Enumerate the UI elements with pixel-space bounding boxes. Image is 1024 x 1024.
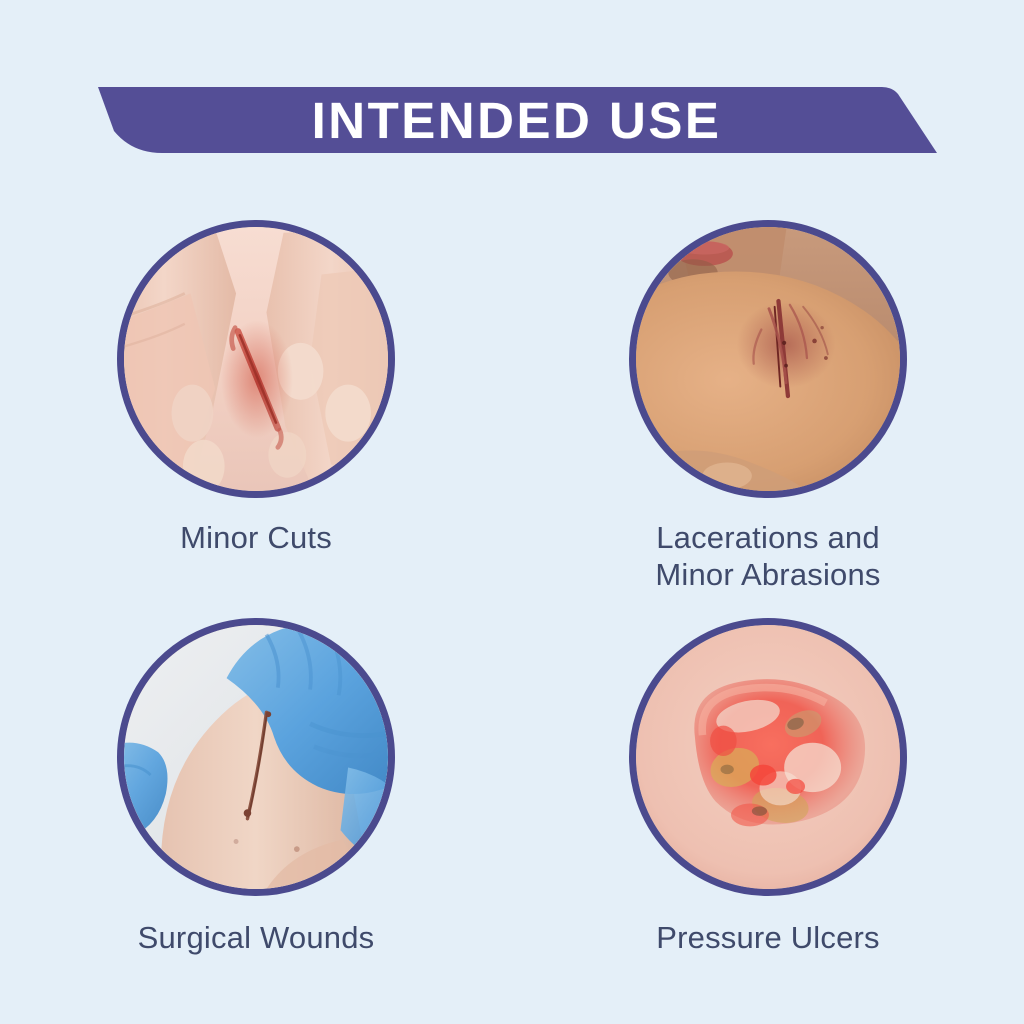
photo-surgical-wounds-image bbox=[124, 625, 388, 889]
grid-item-surgical-wounds: Surgical Wounds bbox=[0, 596, 512, 996]
grid-item-lacerations-abrasions: Lacerations and Minor Abrasions bbox=[512, 196, 1024, 596]
lacerations-illustration bbox=[636, 227, 900, 491]
infographic-poster: INTENDED USE bbox=[0, 0, 1024, 1024]
caption-surgical-wounds: Surgical Wounds bbox=[138, 920, 375, 957]
caption-lacerations-abrasions: Lacerations and Minor Abrasions bbox=[655, 520, 880, 593]
photo-lacerations-abrasions bbox=[629, 220, 907, 498]
intended-use-grid: Minor Cuts bbox=[0, 196, 1024, 1006]
grid-item-minor-cuts: Minor Cuts bbox=[0, 196, 512, 596]
grid-item-pressure-ulcers: Pressure Ulcers bbox=[512, 596, 1024, 996]
photo-pressure-ulcers bbox=[629, 618, 907, 896]
caption-minor-cuts: Minor Cuts bbox=[180, 520, 332, 557]
surgical-wounds-illustration bbox=[124, 625, 388, 889]
photo-minor-cuts-image bbox=[124, 227, 388, 491]
minor-cuts-illustration bbox=[124, 227, 388, 491]
photo-minor-cuts bbox=[117, 220, 395, 498]
caption-pressure-ulcers: Pressure Ulcers bbox=[656, 920, 880, 957]
photo-surgical-wounds bbox=[117, 618, 395, 896]
pressure-ulcers-illustration bbox=[636, 625, 900, 889]
photo-pressure-ulcers-image bbox=[636, 625, 900, 889]
page-title: INTENDED USE bbox=[92, 85, 937, 155]
photo-lacerations-abrasions-image bbox=[636, 227, 900, 491]
header-banner: INTENDED USE bbox=[92, 85, 937, 155]
